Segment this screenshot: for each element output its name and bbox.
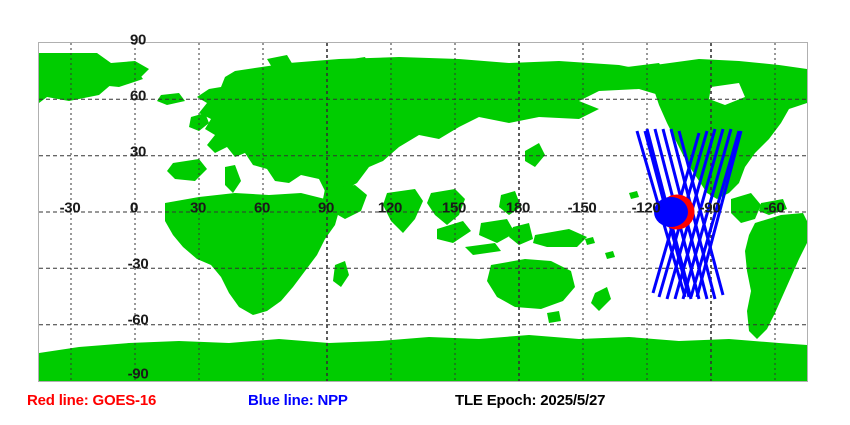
lon-tick--150: -150 [568,200,597,217]
lon-tick-60: 60 [254,200,270,217]
lon-tick--90: -90 [700,200,721,217]
lat-tick--60: -60 [128,312,149,329]
lon-tick--120: -120 [632,200,661,217]
lon-tick-90: 90 [318,200,334,217]
lat-tick--90: -90 [128,366,149,383]
map-canvas [39,43,807,381]
satellite-map-page: -30 0 30 60 90 120 150 180 -150 -120 -90… [0,0,850,425]
legend-tle-epoch: TLE Epoch: 2025/5/27 [455,392,605,409]
legend-blue-line: Blue line: NPP [248,392,348,409]
lon-tick--30: -30 [60,200,81,217]
lat-tick-0: 0 [130,200,138,217]
lon-tick-180: 180 [506,200,530,217]
lon-tick-150: 150 [442,200,466,217]
lat-tick-60: 60 [130,88,146,105]
lat-tick--30: -30 [128,256,149,273]
land-tasmania [547,311,561,323]
lon-tick-120: 120 [378,200,402,217]
lat-tick-30: 30 [130,144,146,161]
legend-red-line: Red line: GOES-16 [27,392,156,409]
legend: Red line: GOES-16 Blue line: NPP TLE Epo… [0,392,850,425]
world-map[interactable] [38,42,808,382]
lon-tick-30: 30 [190,200,206,217]
lat-tick-90: 90 [130,32,146,49]
lon-tick--60: -60 [764,200,785,217]
